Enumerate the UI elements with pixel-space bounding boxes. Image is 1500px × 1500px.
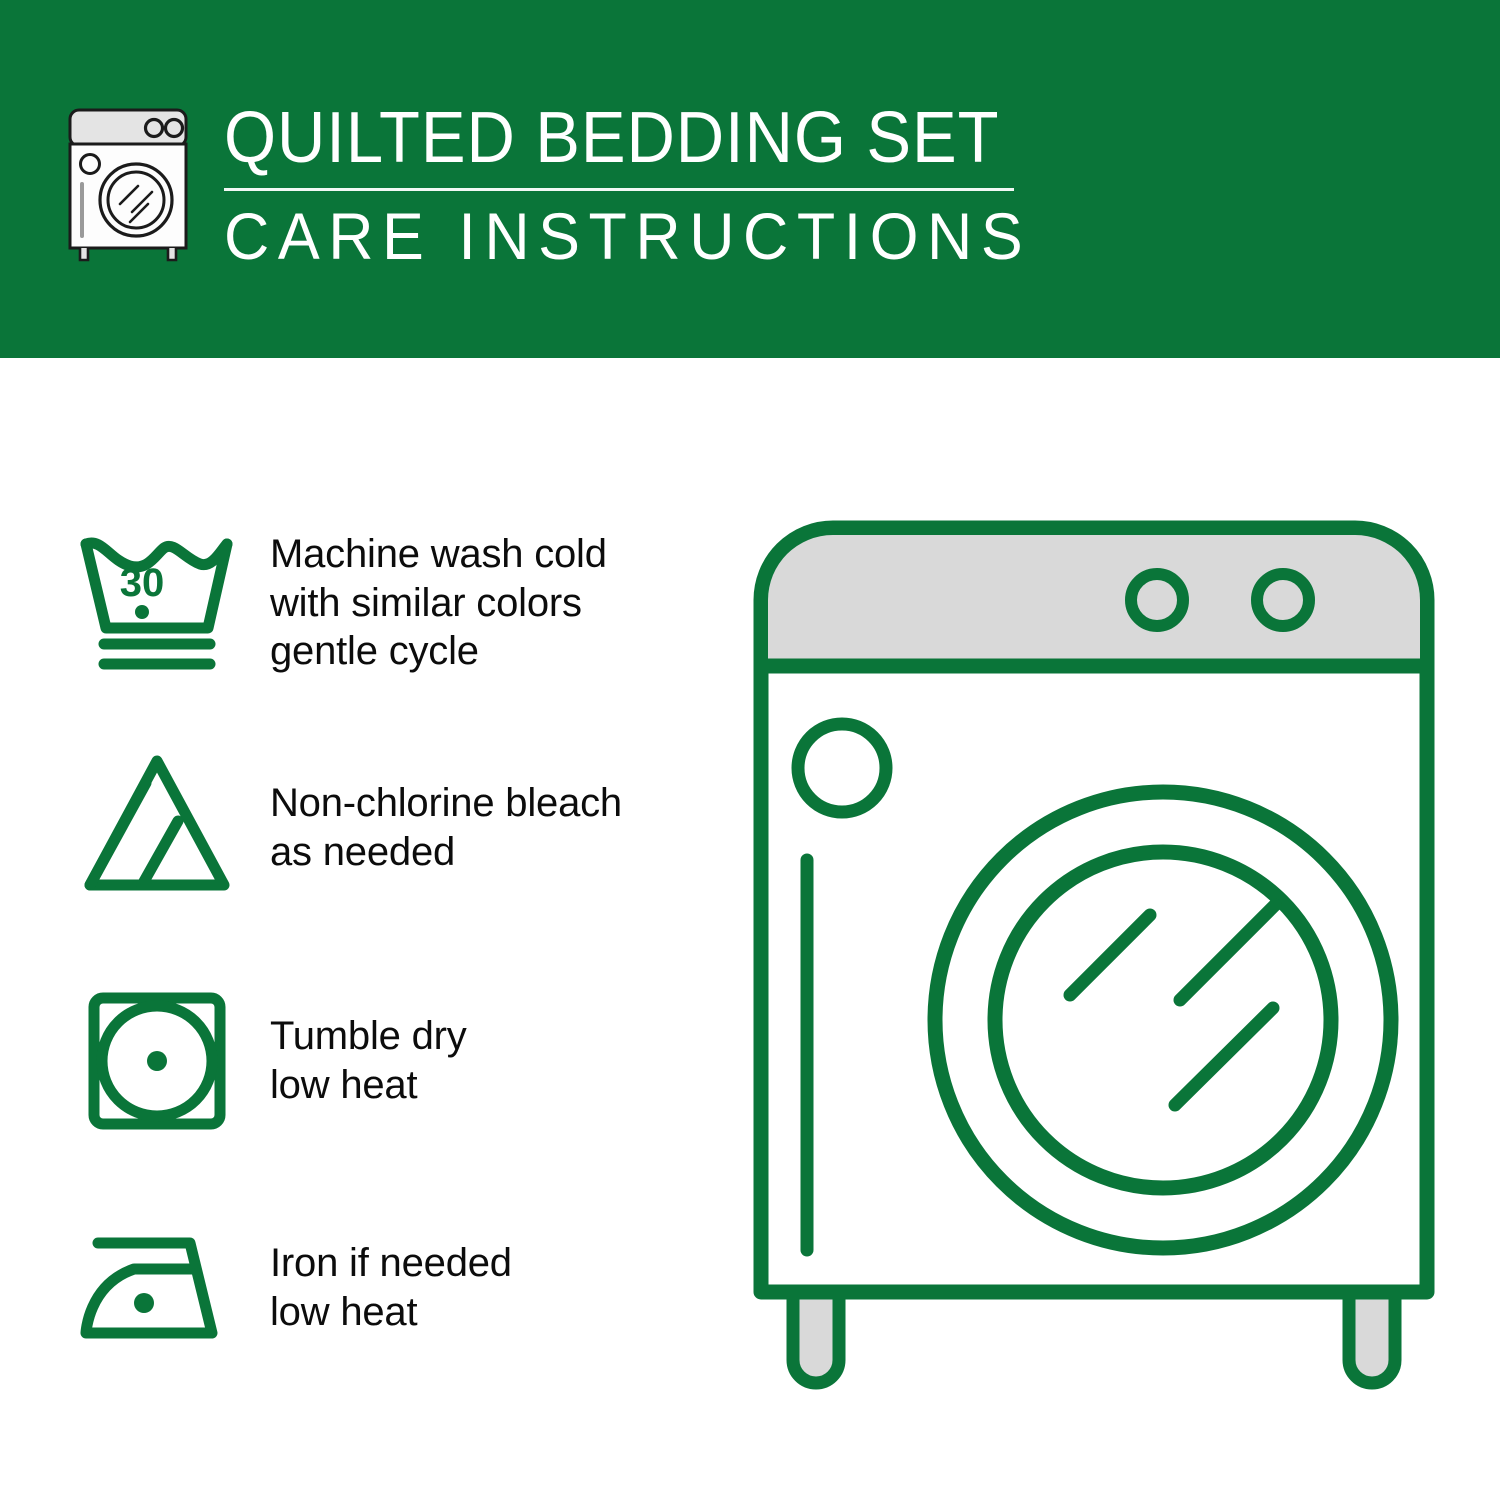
care-text-bleach: Non-chlorine bleach as needed	[270, 779, 622, 877]
care-row-iron: Iron if needed low heat	[72, 1203, 512, 1373]
tumble-dry-icon	[72, 976, 242, 1146]
wash-temperature-value: 30	[120, 561, 165, 605]
care-instruction-list: 30 Machine wash cold with similar colors…	[0, 358, 740, 1500]
page-subtitle: CARE INSTRUCTIONS	[224, 203, 1031, 269]
care-row-bleach: Non-chlorine bleach as needed	[72, 743, 622, 913]
wash-tub-30-icon: 30	[72, 518, 242, 688]
washing-machine-illustration	[745, 480, 1465, 1420]
care-text-machine-wash: Machine wash cold with similar colors ge…	[270, 530, 607, 676]
header-band: QUILTED BEDDING SET CARE INSTRUCTIONS	[0, 0, 1500, 358]
care-row-machine-wash: 30 Machine wash cold with similar colors…	[72, 518, 607, 688]
page-title: QUILTED BEDDING SET	[224, 102, 1014, 174]
washing-machine-icon	[62, 104, 202, 269]
care-text-tumble-dry: Tumble dry low heat	[270, 1012, 467, 1110]
wash-dot	[135, 605, 149, 619]
care-text-iron: Iron if needed low heat	[270, 1239, 512, 1337]
care-instructions-infographic: QUILTED BEDDING SET CARE INSTRUCTIONS 30	[0, 0, 1500, 1500]
control-panel	[768, 535, 1420, 665]
iron-icon	[72, 1203, 242, 1373]
care-row-tumble-dry: Tumble dry low heat	[72, 976, 467, 1146]
bleach-triangle-icon	[72, 743, 242, 913]
iron-heat-dot	[134, 1293, 154, 1313]
title-divider	[224, 188, 1014, 191]
tumble-dry-heat-dot	[147, 1051, 167, 1071]
header-content: QUILTED BEDDING SET CARE INSTRUCTIONS	[62, 98, 1074, 269]
header-text-block: QUILTED BEDDING SET CARE INSTRUCTIONS	[224, 98, 1074, 269]
